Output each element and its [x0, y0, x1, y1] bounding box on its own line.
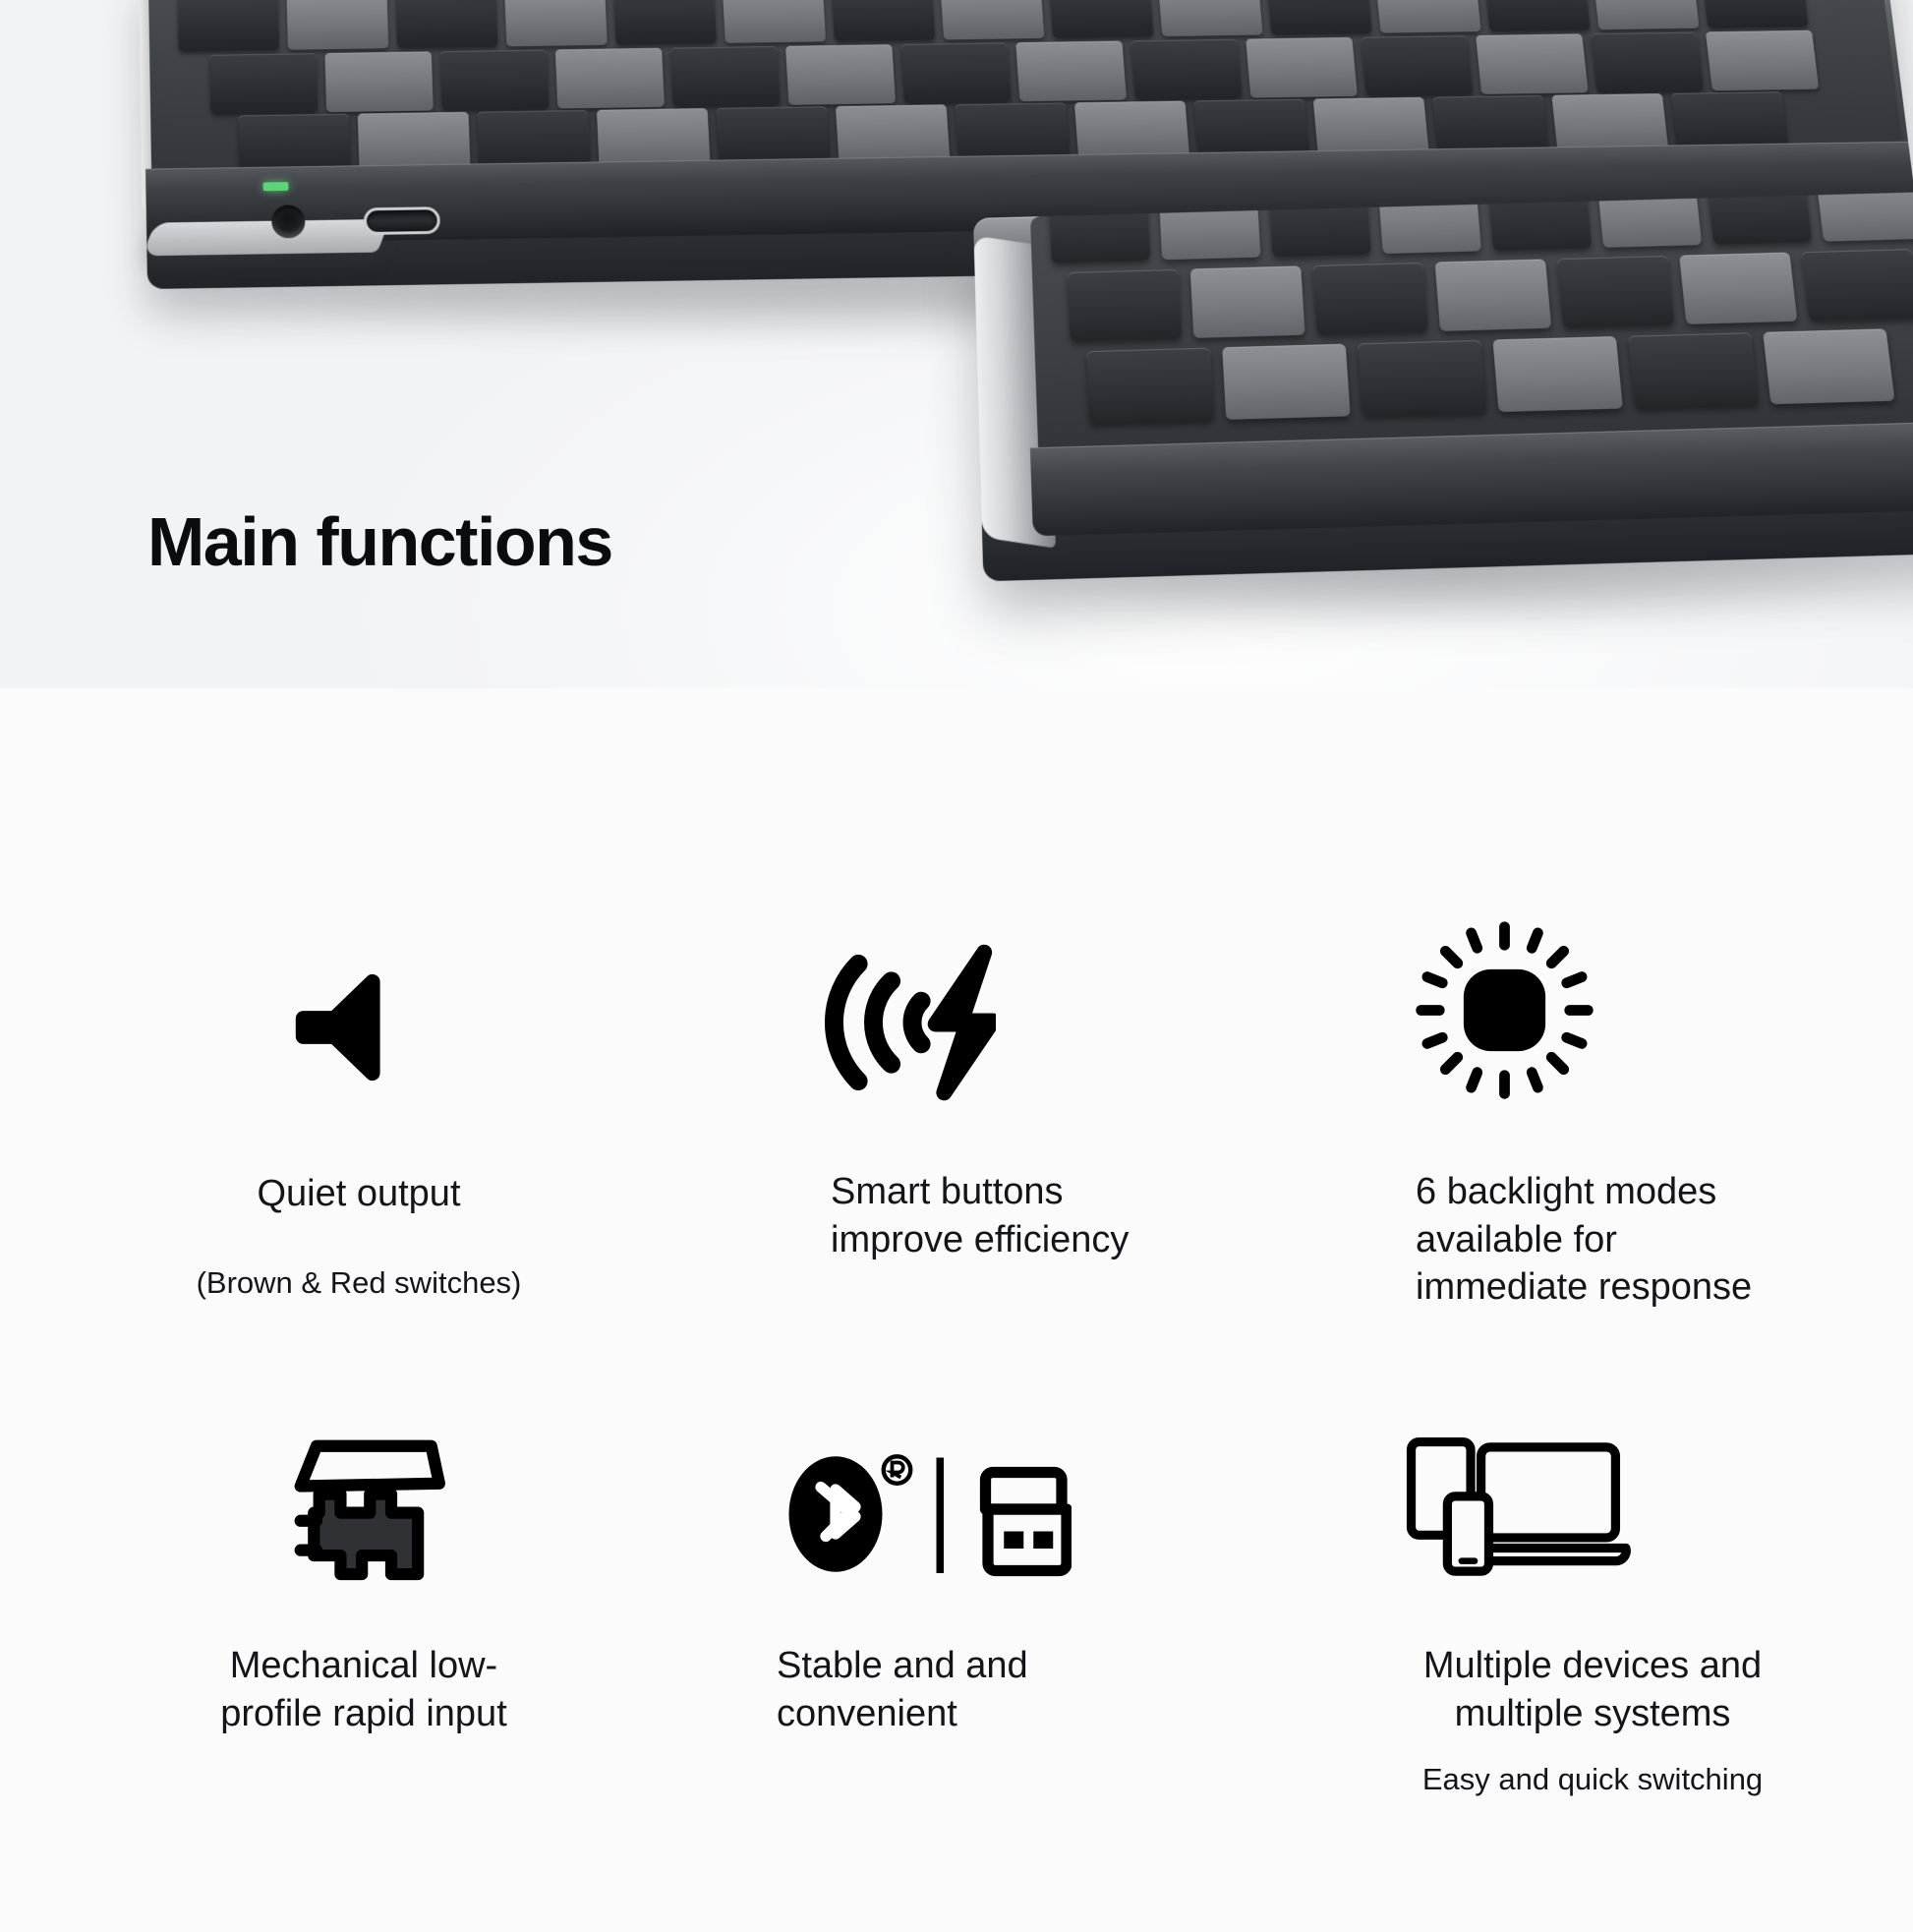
keycap [1375, 0, 1481, 33]
keycap [440, 50, 550, 111]
keycap [1313, 97, 1429, 156]
keycap [670, 46, 781, 107]
feature-caption-devices: Multiple devices and multiple systems [1317, 1642, 1868, 1737]
keycap [723, 0, 826, 43]
feature-subcaption-devices: Easy and quick switching [1317, 1760, 1868, 1799]
keycap [1435, 260, 1552, 331]
keycap [1707, 192, 1812, 245]
feature-caption-quiet: Quiet output [98, 1170, 619, 1218]
keycap [395, 0, 497, 48]
speaker-volume-icon [254, 934, 450, 1121]
keycap [1190, 265, 1305, 338]
product-photo-hero [0, 0, 1913, 688]
keycap [1557, 256, 1674, 327]
keyboard-foot [143, 219, 390, 257]
sun-brightness-icon [1396, 905, 1612, 1116]
keycap [613, 0, 717, 45]
keycap [504, 0, 608, 46]
secondary-keyboard [973, 192, 1913, 581]
keycap [1484, 0, 1591, 31]
keycap [955, 102, 1070, 161]
feature-caption-backlight: 6 backlight modes available for immediat… [1416, 1168, 1907, 1312]
keycap [1222, 344, 1350, 420]
keycap [178, 0, 279, 51]
keycap-switch-icon [246, 1406, 462, 1603]
keycap [1246, 37, 1358, 98]
keycap [358, 112, 471, 171]
feature-caption-switch: Mechanical low- profile rapid input [108, 1642, 619, 1737]
feature-caption-smart: Smart buttons improve efficiency [831, 1168, 1303, 1263]
keycap [716, 106, 830, 165]
keycap [1551, 93, 1668, 152]
feature-caption-wireless: Stable and and convenient [777, 1642, 1229, 1737]
keycap [1706, 30, 1819, 91]
numpad-deck [1030, 192, 1913, 461]
keycap [1266, 0, 1371, 34]
keycap [832, 0, 936, 41]
keycap [1597, 192, 1702, 248]
keycap [1801, 249, 1913, 321]
registered-trademark-icon [884, 1456, 911, 1484]
keycap [1312, 263, 1428, 334]
keycap [940, 0, 1044, 39]
keycap [1193, 99, 1309, 158]
keycap [1086, 348, 1214, 424]
keycap [238, 114, 350, 173]
keycap [1593, 0, 1699, 29]
keycap [1158, 0, 1263, 36]
keycap [1492, 336, 1622, 412]
keycap [1068, 269, 1182, 342]
keycap [1679, 253, 1797, 324]
keycap [836, 104, 950, 163]
keycap [555, 48, 665, 109]
keycap [1476, 33, 1589, 94]
feature-grid: Quiet output (Brown & Red switches) Smar… [0, 688, 1913, 1932]
page-title: Main functions [147, 507, 612, 576]
keycap [1074, 101, 1189, 160]
keycap [785, 44, 896, 105]
keycap [1432, 95, 1549, 154]
keycap [597, 108, 711, 167]
keycap [324, 51, 433, 112]
keycap [900, 42, 1011, 103]
keycap [1628, 332, 1759, 408]
usb-c-port [364, 206, 441, 235]
charging-indicator-led [262, 182, 288, 191]
keycap [1671, 91, 1788, 150]
bluetooth-usb-dongle-icon [777, 1416, 1072, 1603]
keycap [1130, 39, 1242, 100]
keycap [1358, 340, 1486, 416]
feature-subcaption-quiet: (Brown & Red switches) [98, 1263, 619, 1303]
keycap [1591, 32, 1704, 93]
keycap [1816, 192, 1913, 241]
keycap [1763, 328, 1894, 404]
keycap [286, 0, 388, 50]
keycap [1361, 35, 1473, 96]
multi-device-icon [1396, 1416, 1652, 1603]
signal-lightning-icon [806, 924, 1013, 1121]
keycap [1702, 0, 1809, 29]
keycap [1049, 0, 1154, 38]
keycap [209, 53, 318, 114]
keycap [1015, 41, 1127, 102]
keycap [477, 110, 590, 169]
